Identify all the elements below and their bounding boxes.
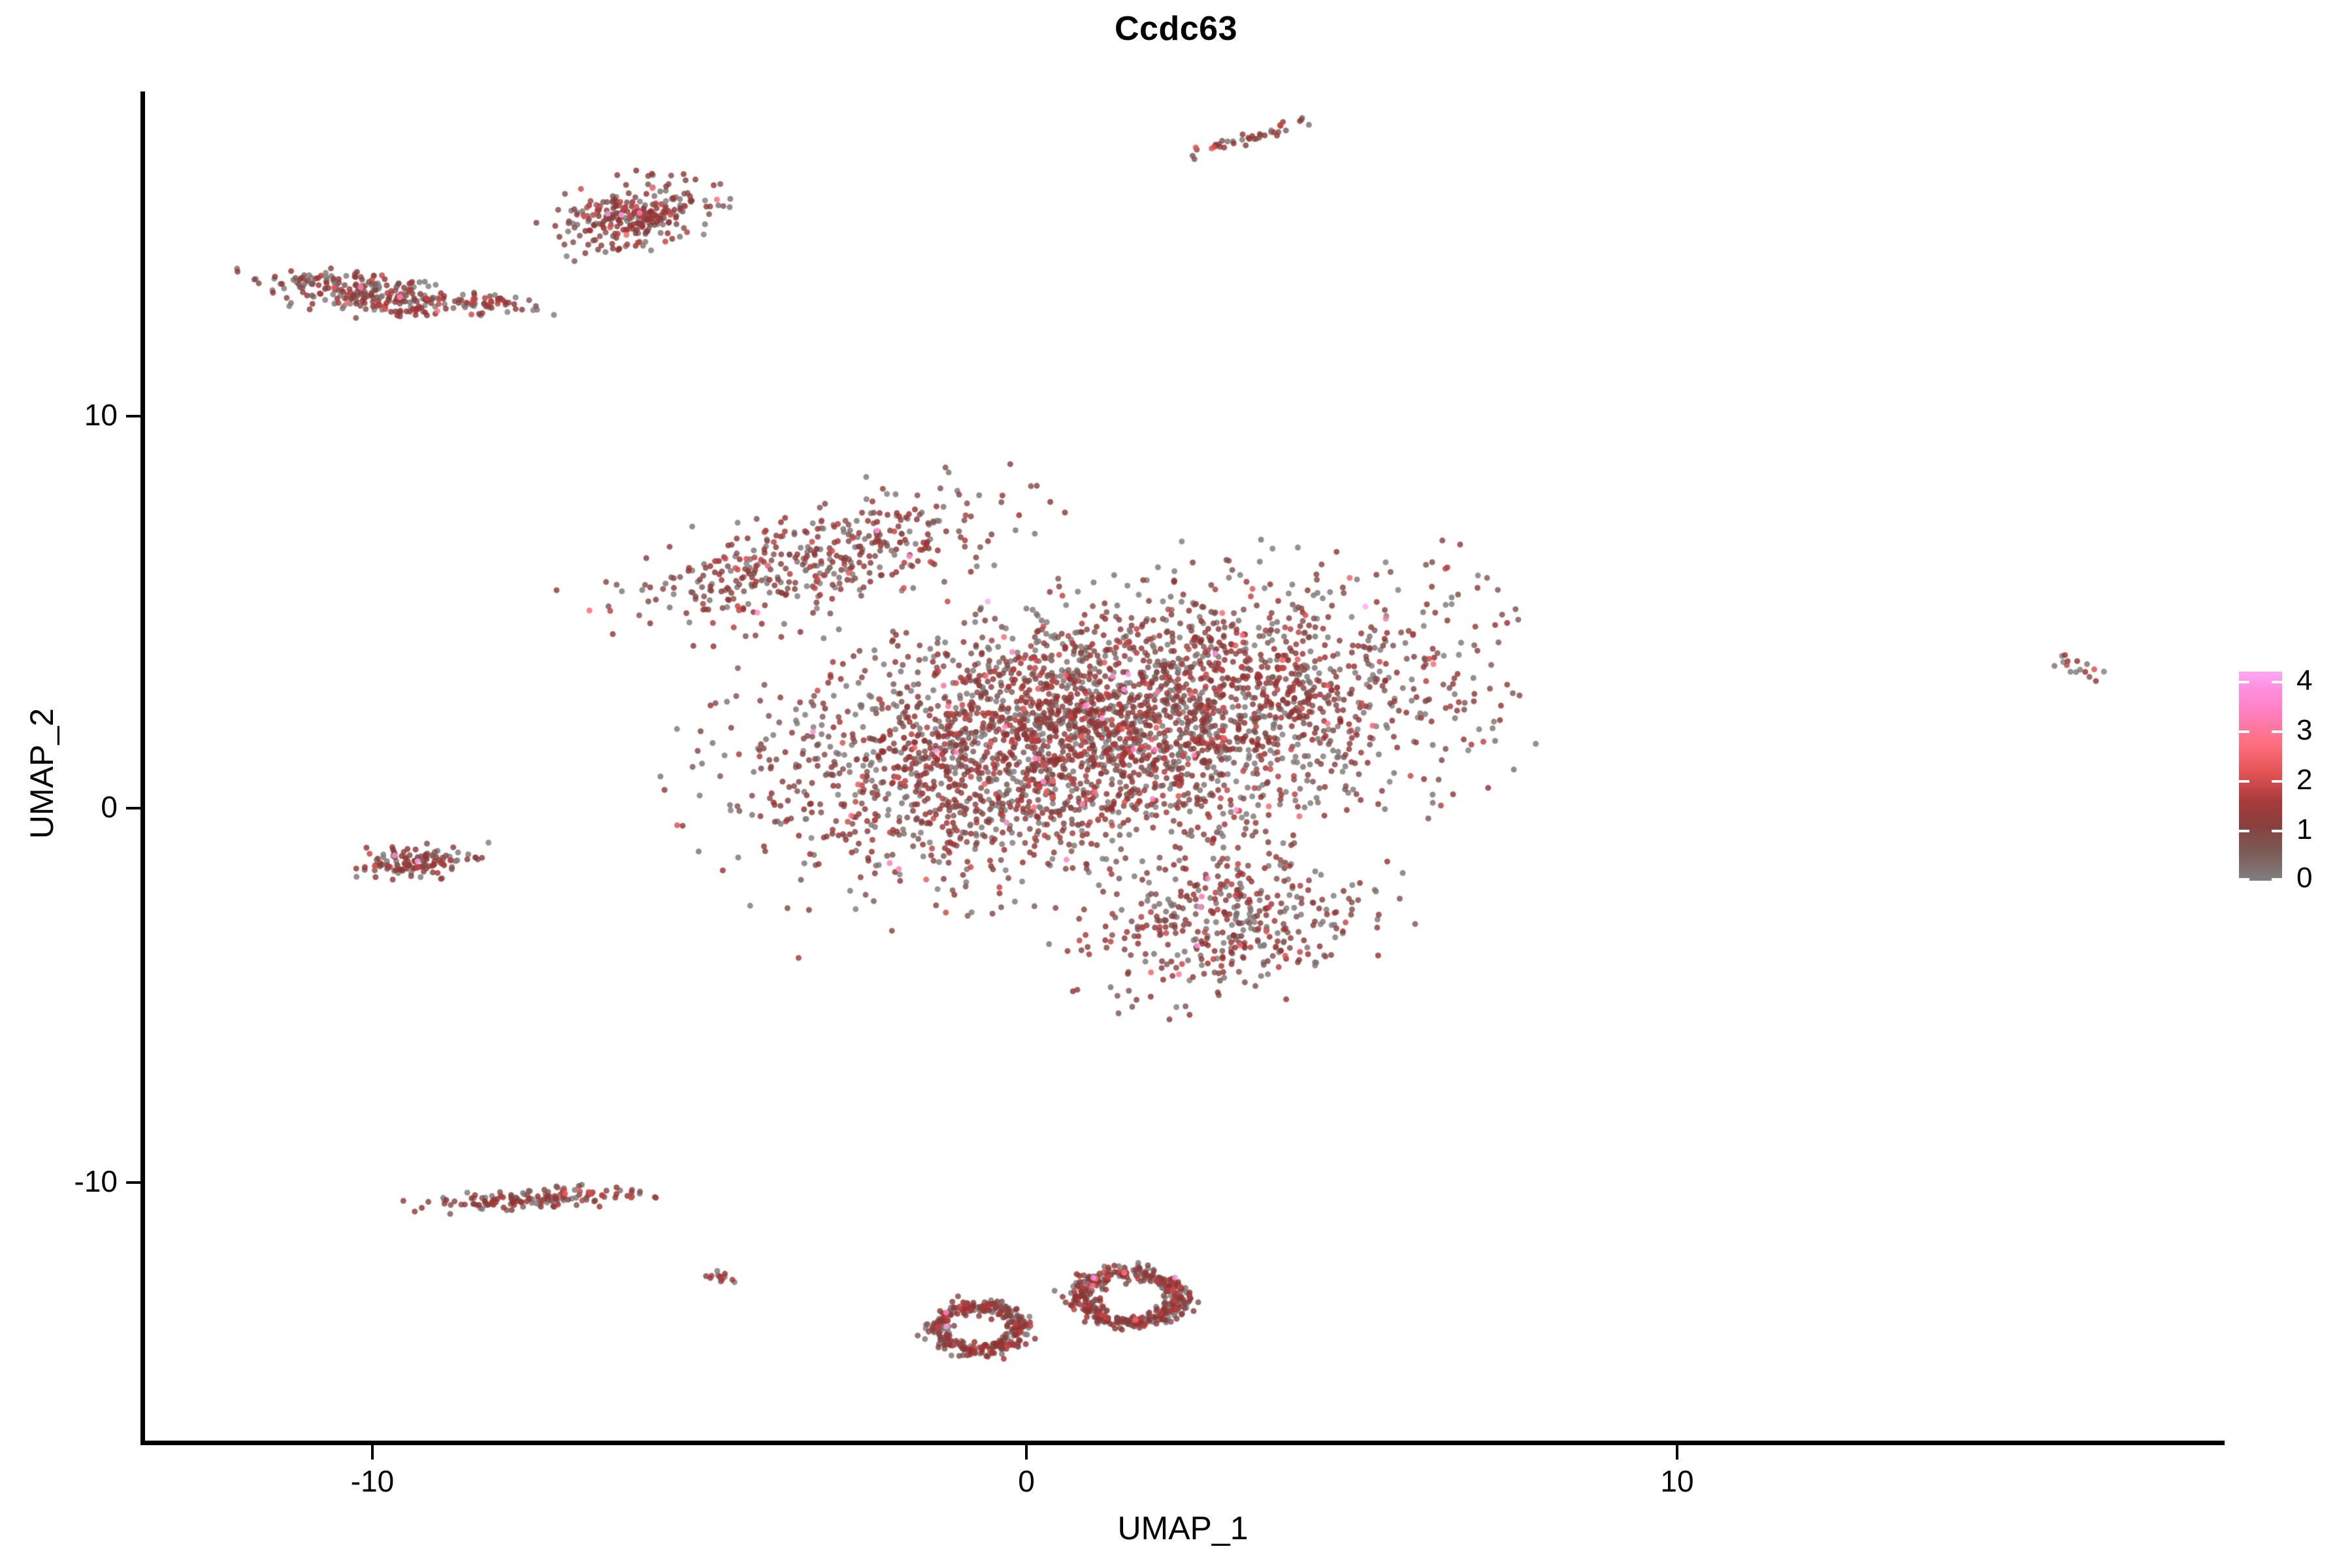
legend-colorbar — [2239, 672, 2282, 881]
legend-tick-1-right — [2272, 830, 2282, 832]
y-tick-mark-2 — [126, 1181, 140, 1184]
legend-label-1: 1 — [2296, 815, 2312, 844]
legend-tick-3-right — [2272, 730, 2282, 733]
legend-tick-0-left — [2239, 878, 2249, 881]
x-tick-mark-2 — [1676, 1445, 1678, 1460]
legend-tick-3-left — [2239, 730, 2249, 733]
x-tick-label-1: 0 — [961, 1463, 1092, 1499]
legend-label-0: 0 — [2296, 864, 2312, 892]
umap-feature-plot: Ccdc63 -10 0 10 10 0 -10 UMAP_1 UMAP_2 4… — [0, 0, 2352, 1568]
x-axis-line — [140, 1441, 2225, 1445]
y-tick-label-2: -10 — [0, 1164, 118, 1199]
x-tick-label-2: 10 — [1612, 1463, 1742, 1499]
legend-tick-1-left — [2239, 830, 2249, 832]
x-tick-label-0: -10 — [307, 1463, 438, 1499]
x-axis-title: UMAP_1 — [144, 1509, 2221, 1547]
y-axis-line — [140, 91, 145, 1445]
legend-label-4: 4 — [2296, 666, 2312, 695]
legend-tick-2-left — [2239, 780, 2249, 783]
x-tick-mark-0 — [371, 1445, 374, 1460]
scatter-points-layer — [144, 91, 2221, 1441]
y-axis-title: UMAP_2 — [23, 447, 61, 1100]
legend-tick-0-right — [2272, 878, 2282, 881]
y-tick-label-0: 10 — [0, 397, 118, 433]
legend-label-3: 3 — [2296, 716, 2312, 745]
legend-tick-4-left — [2239, 681, 2249, 683]
legend-tick-2-right — [2272, 780, 2282, 783]
y-tick-mark-1 — [126, 807, 140, 809]
y-tick-mark-0 — [126, 415, 140, 417]
page-title: Ccdc63 — [0, 9, 2352, 48]
x-tick-mark-1 — [1025, 1445, 1028, 1460]
legend-tick-4-right — [2272, 681, 2282, 683]
legend-label-2: 2 — [2296, 766, 2312, 794]
plot-panel — [144, 91, 2221, 1441]
